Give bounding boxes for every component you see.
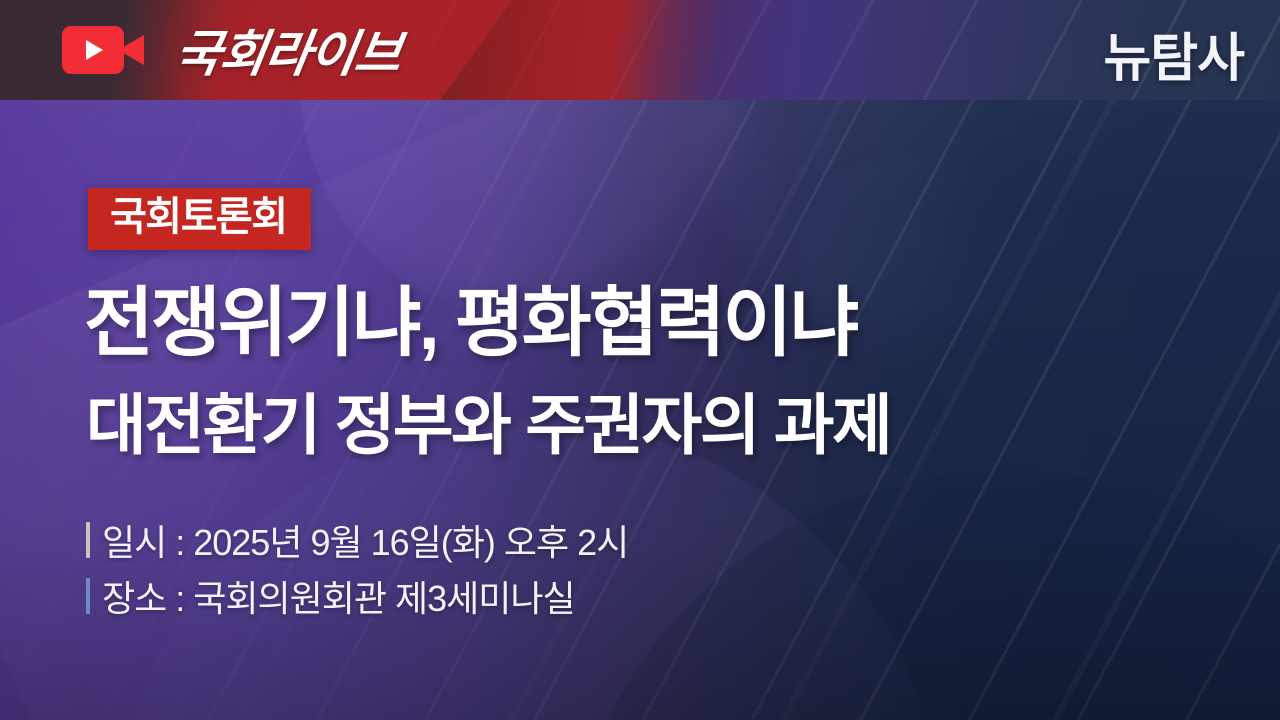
broadcast-title-card: 국회라이브 뉴탐사 국회토론회 전쟁위기냐, 평화협력이냐 대전환기 정부와 주… (0, 0, 1280, 720)
camera-lens-shape (118, 35, 144, 65)
accent-bar-icon (86, 578, 90, 614)
event-venue-row: 장소 : 국회의원회관 제3세미나실 (86, 570, 575, 622)
channel-brand-logo: 뉴탐사 (1103, 16, 1244, 91)
video-camera-icon (62, 26, 148, 74)
event-datetime-row: 일시 : 2025년 9월 16일(화) 오후 2시 (86, 514, 628, 566)
category-badge: 국회토론회 (88, 188, 311, 250)
event-venue-text: 장소 : 국회의원회관 제3세미나실 (102, 570, 575, 622)
page-subtitle: 대전환기 정부와 주권자의 과제 (86, 392, 890, 458)
header-bar: 국회라이브 뉴탐사 (0, 0, 1280, 100)
category-badge-label: 국회토론회 (110, 197, 287, 237)
play-triangle-icon (86, 40, 103, 60)
event-datetime-text: 일시 : 2025년 9월 16일(화) 오후 2시 (102, 514, 628, 566)
live-program-label: 국회라이브 (170, 14, 406, 86)
page-title: 전쟁위기냐, 평화협력이냐 (84, 286, 856, 362)
accent-bar-icon (86, 522, 90, 558)
